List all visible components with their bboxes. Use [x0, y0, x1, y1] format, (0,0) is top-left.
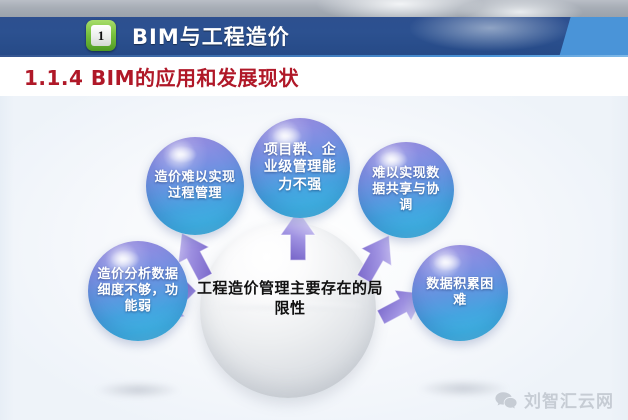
canvas-right-vignette [610, 96, 628, 420]
slide-canvas: 1 BIM与工程造价 1.1.4 BIM的应用和发展现状 [0, 0, 628, 420]
diagram-node-enterprise-management[interactable]: 项目群、企业级管理能力不强 [250, 118, 350, 218]
diagram-node-label: 难以实现数据共享与协调 [358, 166, 454, 214]
section-subtitle: 1.1.4 BIM的应用和发展现状 [24, 62, 299, 91]
diagram-node-data-sharing[interactable]: 难以实现数据共享与协调 [358, 142, 454, 238]
chapter-badge: 1 [86, 20, 116, 51]
floor-shadow-left [96, 382, 180, 398]
watermark-text: 刘智汇云网 [524, 387, 614, 412]
page-title: BIM与工程造价 [132, 21, 290, 51]
diagram-node-label: 造价难以实现过程管理 [146, 170, 244, 202]
diagram-node-cost-analysis-granularity[interactable]: 造价分析数据细度不够，功能弱 [88, 241, 188, 341]
diagram-node-process-management[interactable]: 造价难以实现过程管理 [146, 137, 244, 235]
watermark: 刘智汇云网 [494, 387, 614, 412]
chapter-badge-number: 1 [91, 25, 111, 46]
header-photo-overlay [410, 17, 570, 51]
diagram-node-label: 数据积累困难 [412, 277, 508, 309]
header-underline [0, 55, 628, 57]
top-photo-strip [0, 0, 628, 17]
diagram-node-label: 项目群、企业级管理能力不强 [250, 142, 350, 193]
wechat-icon [494, 390, 518, 410]
diagram-node-label: 造价分析数据细度不够，功能弱 [88, 267, 188, 315]
center-sphere-label: 工程造价管理主要存在的局限性 [196, 278, 384, 318]
canvas-left-vignette [0, 96, 14, 420]
diagram-node-data-accumulation[interactable]: 数据积累困难 [412, 245, 508, 341]
